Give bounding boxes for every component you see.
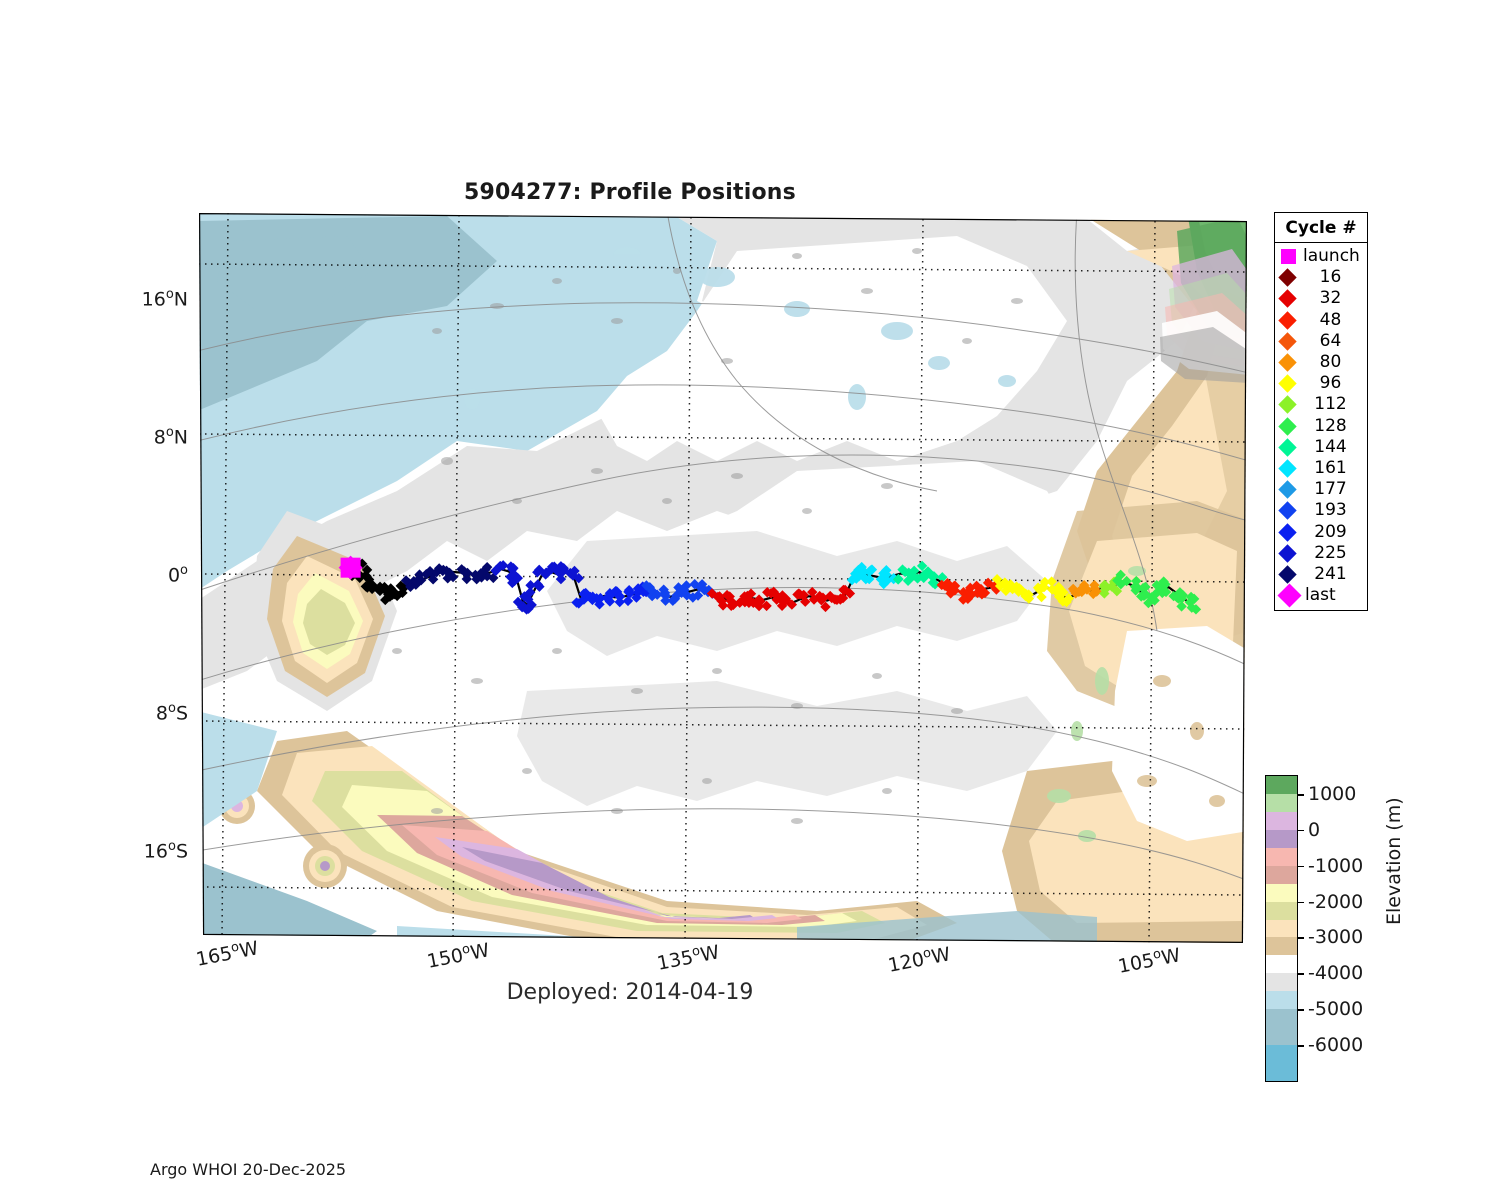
legend-swatch-225 (1278, 544, 1296, 562)
legend-label-193: 193 (1298, 502, 1367, 519)
colorbar-band-0 (1266, 830, 1297, 848)
colorbar-tick--1000 (1297, 866, 1304, 868)
colorbar-tick-label-0: 0 (1308, 819, 1320, 841)
legend-label-144: 144 (1298, 439, 1367, 456)
cycle-legend[interactable]: Cycle # launch16324864809611212814416117… (1274, 212, 1368, 611)
legend-label-112: 112 (1298, 396, 1367, 413)
x-tick-135W: 135oW (655, 940, 721, 975)
legend-swatch-32 (1278, 290, 1296, 308)
legend-item-225[interactable]: 225 (1275, 543, 1367, 564)
legend-item-32[interactable]: 32 (1275, 288, 1367, 309)
legend-label-177: 177 (1298, 481, 1367, 498)
legend-label-209: 209 (1298, 524, 1367, 541)
legend-swatch-241 (1278, 565, 1296, 583)
legend-item-128[interactable]: 128 (1275, 416, 1367, 437)
colorbar-band--5000 (1266, 1009, 1297, 1045)
legend-label-161: 161 (1298, 460, 1367, 477)
legend-item-list: launch1632486480961121281441611771932092… (1275, 243, 1367, 610)
legend-item-112[interactable]: 112 (1275, 394, 1367, 415)
y-tick--8: 8oS (68, 701, 188, 724)
colorbar-band--1000 (1266, 866, 1297, 884)
legend-swatch-128 (1278, 417, 1296, 435)
x-tick-120W: 120oW (886, 942, 952, 977)
legend-label-225: 225 (1298, 545, 1367, 562)
colorbar-tick--3000 (1297, 937, 1304, 939)
colorbar-tick-label--1000: -1000 (1308, 855, 1363, 877)
colorbar-tick-label--6000: -6000 (1308, 1034, 1363, 1056)
legend-swatch-177 (1278, 480, 1296, 498)
legend-item-241[interactable]: 241 (1275, 564, 1367, 585)
legend-item-16[interactable]: 16 (1275, 267, 1367, 288)
legend-swatch-16 (1278, 269, 1296, 287)
legend-swatch-80 (1278, 353, 1296, 371)
colorbar-tick-label--3000: -3000 (1308, 926, 1363, 948)
colorbar-tick-0 (1297, 830, 1304, 832)
bathymetry-map (197, 211, 1249, 945)
legend-swatch-144 (1278, 438, 1296, 456)
legend-swatch-161 (1278, 459, 1296, 477)
colorbar-band--4000 (1266, 973, 1297, 991)
legend-item-64[interactable]: 64 (1275, 331, 1367, 352)
colorbar-gradient (1265, 775, 1298, 1082)
map-plot-area[interactable] (197, 211, 1249, 945)
legend-item-80[interactable]: 80 (1275, 352, 1367, 373)
page-title: 5904277: Profile Positions (0, 180, 1260, 205)
legend-label-launch: launch (1300, 248, 1367, 265)
colorbar-tick--4000 (1297, 973, 1304, 975)
colorbar-band--3000 (1266, 937, 1297, 955)
legend-item-48[interactable]: 48 (1275, 310, 1367, 331)
legend-swatch-193 (1278, 502, 1296, 520)
colorbar-band--1500 (1266, 884, 1297, 902)
colorbar-tick-label--4000: -4000 (1308, 962, 1363, 984)
colorbar-band-500 (1266, 812, 1297, 830)
colorbar-tick--5000 (1297, 1009, 1304, 1011)
legend-label-32: 32 (1298, 290, 1367, 307)
legend-label-16: 16 (1298, 269, 1367, 286)
legend-label-48: 48 (1298, 312, 1367, 329)
map-canvas (197, 211, 1249, 945)
legend-swatch-launch (1281, 249, 1296, 264)
colorbar-tick-1000 (1297, 794, 1304, 796)
colorbar-band--4500 (1266, 991, 1297, 1009)
legend-label-64: 64 (1298, 333, 1367, 350)
y-tick--16: 16oS (68, 839, 188, 862)
colorbar-band--500 (1266, 848, 1297, 866)
legend-swatch-last (1277, 584, 1301, 608)
colorbar-band-1000 (1266, 794, 1297, 812)
legend-item-193[interactable]: 193 (1275, 500, 1367, 521)
legend-swatch-48 (1278, 311, 1296, 329)
colorbar-band--2000 (1266, 902, 1297, 920)
colorbar-tick-label--2000: -2000 (1308, 891, 1363, 913)
y-tick-0: 0o (68, 563, 188, 586)
colorbar-tick-label-1000: 1000 (1308, 783, 1356, 805)
legend-label-80: 80 (1298, 354, 1367, 371)
legend-title: Cycle # (1275, 213, 1367, 243)
y-tick-8: 8oN (68, 425, 188, 448)
legend-item-96[interactable]: 96 (1275, 373, 1367, 394)
legend-item-209[interactable]: 209 (1275, 521, 1367, 542)
legend-item-144[interactable]: 144 (1275, 437, 1367, 458)
legend-swatch-64 (1278, 332, 1296, 350)
colorbar-axis-label: Elevation (m) (1383, 797, 1405, 925)
y-tick-16: 16oN (68, 287, 188, 310)
legend-item-177[interactable]: 177 (1275, 479, 1367, 500)
legend-swatch-209 (1278, 523, 1296, 541)
legend-label-last: last (1302, 587, 1367, 604)
legend-item-161[interactable]: 161 (1275, 458, 1367, 479)
legend-swatch-96 (1278, 375, 1296, 393)
legend-label-128: 128 (1298, 418, 1367, 435)
colorbar-band--6000 (1266, 1045, 1297, 1081)
legend-item-last[interactable]: last (1275, 585, 1367, 606)
colorbar-band-1500 (1266, 776, 1297, 794)
legend-label-241: 241 (1298, 566, 1367, 583)
legend-swatch-112 (1278, 396, 1296, 414)
legend-label-96: 96 (1298, 375, 1367, 392)
colorbar-tick--2000 (1297, 902, 1304, 904)
footer-credit: Argo WHOI 20-Dec-2025 (150, 1160, 346, 1179)
colorbar-band--2500 (1266, 920, 1297, 938)
x-tick-105W: 105oW (1116, 943, 1182, 978)
colorbar-tick-label--5000: -5000 (1308, 998, 1363, 1020)
colorbar-band--3500 (1266, 955, 1297, 973)
colorbar-tick--6000 (1297, 1045, 1304, 1047)
elevation-colorbar[interactable]: 10000-1000-2000-3000-4000-5000-6000 Elev… (1265, 775, 1298, 1082)
deployed-caption: Deployed: 2014-04-19 (0, 980, 1260, 1005)
legend-item-launch[interactable]: launch (1275, 246, 1367, 267)
